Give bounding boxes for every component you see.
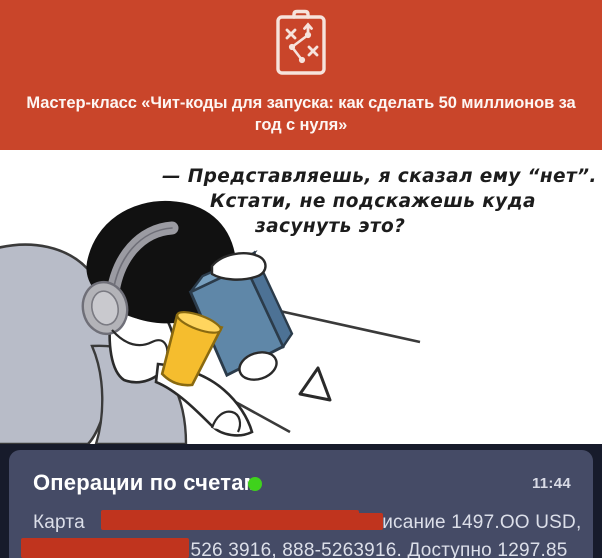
notification-card-label: Карта: [33, 512, 85, 533]
screenshot-root: Мастер-класс «Чит-коды для запуска: как …: [0, 0, 602, 558]
notification-timestamp: 11:44: [532, 475, 571, 492]
notification-balance-text: 526 3916, 888-5263916. Доступно 1297.85: [190, 540, 567, 558]
notification-header-row: Операции по счетам 11:44: [33, 470, 575, 500]
notification-area: Операции по счетам 11:44 Карта 4 списани…: [0, 444, 602, 558]
redaction-bar-account: [21, 538, 189, 558]
bank-notification-card[interactable]: Операции по счетам 11:44 Карта 4 списани…: [9, 450, 593, 558]
status-dot-icon: [248, 477, 262, 491]
comic-speech-line-1: — Представляешь, я сказал ему “нет”.: [162, 166, 597, 187]
promo-header-title: Мастер-класс «Чит-коды для запуска: как …: [26, 93, 576, 137]
clipboard-strategy-icon: [269, 8, 333, 80]
redaction-bar-tail: [339, 513, 383, 530]
redaction-bar-card-number: [101, 510, 359, 530]
promo-header-banner: Мастер-класс «Чит-коды для запуска: как …: [0, 0, 602, 150]
comic-speech-line-3: засунуть это?: [255, 216, 405, 237]
comic-speech-line-2: Кстати, не подскажешь куда: [210, 191, 536, 212]
notification-title: Операции по счетам: [33, 470, 260, 496]
comic-illustration-panel: — Представляешь, я сказал ему “нет”. Кст…: [0, 150, 602, 444]
